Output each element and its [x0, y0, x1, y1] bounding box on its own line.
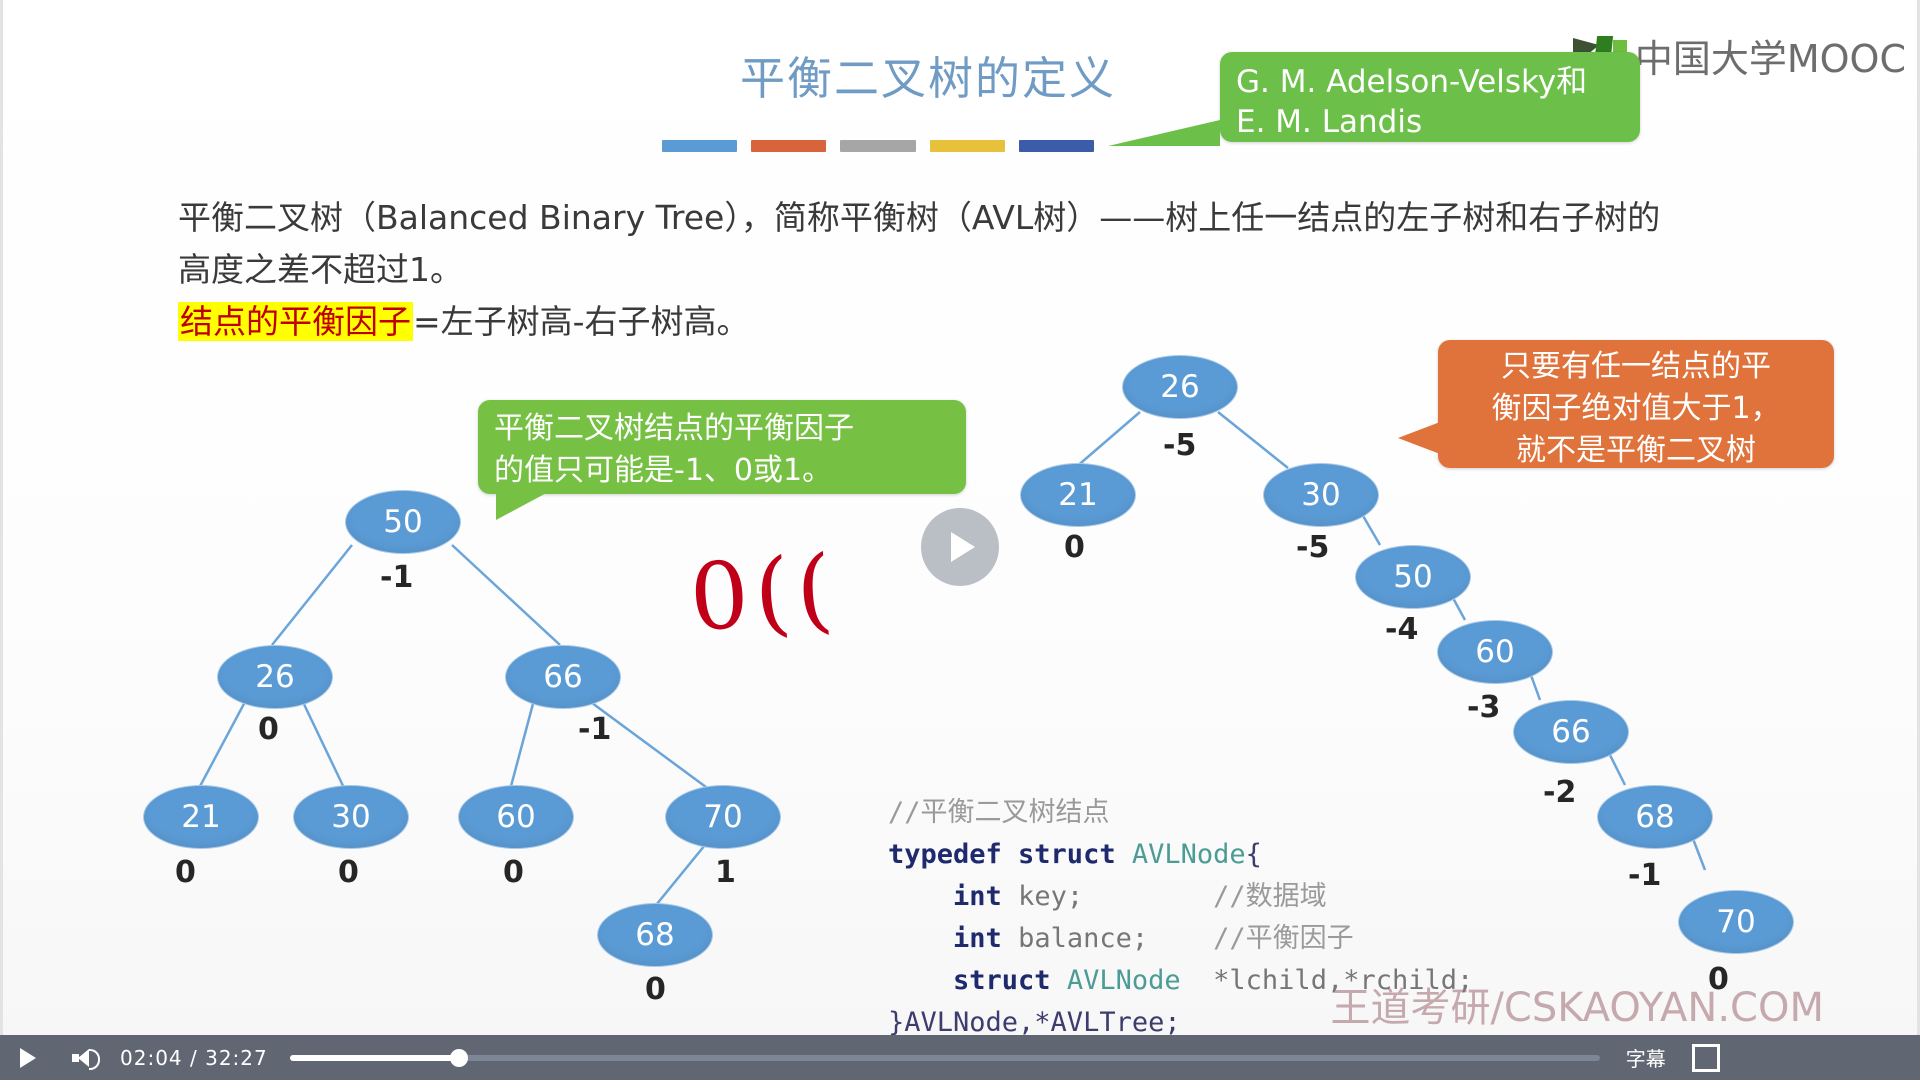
code-struct-type-ref: AVLNode	[1067, 965, 1181, 996]
watermark-text: 王道考研/CSKAOYAN.COM	[1330, 975, 1824, 1033]
balance-factor-formula: =左子树高-右子树高。	[413, 302, 750, 341]
tree-node[interactable]: 68	[1597, 785, 1713, 849]
video-player-page: 平衡二叉树的定义 中国大学MOOC 平衡二叉树（Balanced Binary …	[0, 0, 1920, 1080]
video-controls-bar: 02:04 / 32:27 字幕	[0, 1035, 1920, 1080]
volume-wave-icon	[89, 1049, 100, 1070]
definition-paragraph: 平衡二叉树（Balanced Binary Tree），简称平衡树（AVL树）—…	[178, 192, 1778, 348]
tree-node-balance-factor: -1	[380, 560, 413, 595]
title-bar-2	[751, 140, 826, 152]
play-button[interactable]	[0, 1035, 56, 1080]
authors-callout-line-2: E. M. Landis	[1236, 102, 1624, 142]
tree-node-balance-factor: 0	[175, 855, 196, 890]
tree-node-balance-factor: -1	[578, 712, 611, 747]
fullscreen-corner-tl-icon	[1692, 1044, 1706, 1058]
title-bar-1	[662, 140, 737, 152]
tree-node-balance-factor: -2	[1543, 775, 1576, 810]
tree-node-balance-factor: 1	[715, 855, 736, 890]
code-typedef-keyword: typedef struct	[888, 839, 1116, 870]
time-display: 02:04 / 32:27	[120, 1046, 268, 1070]
authors-callout-tail	[1108, 120, 1220, 146]
mooc-logo-text: 中国大学MOOC	[1635, 28, 1906, 83]
definition-line-1: 平衡二叉树（Balanced Binary Tree），简称平衡树（AVL树）—…	[178, 192, 1778, 244]
tree-node-balance-factor: -4	[1385, 612, 1418, 647]
balance-factor-highlight: 结点的平衡因子	[178, 302, 413, 341]
balance-factor-values-callout: 平衡二叉树结点的平衡因子 的值只可能是-1、0或1。	[478, 400, 966, 494]
tree-node[interactable]: 30	[293, 785, 409, 849]
tree-node[interactable]: 66	[1513, 700, 1629, 764]
tree-node-balance-factor: -5	[1163, 428, 1196, 463]
tree-node-balance-factor: -1	[1628, 858, 1661, 893]
tree-node[interactable]: 26	[1122, 355, 1238, 419]
slide-title: 平衡二叉树的定义	[740, 42, 1170, 107]
tree-node[interactable]: 60	[458, 785, 574, 849]
tree-node-balance-factor: -5	[1296, 530, 1329, 565]
code-int-keyword-1: int	[953, 881, 1002, 912]
code-comment-balance: //平衡因子	[1213, 923, 1354, 954]
play-triangle-icon	[951, 532, 975, 562]
tree-node[interactable]: 30	[1263, 463, 1379, 527]
orange-callout-line-2: 衡因子绝对值大于1，	[1452, 388, 1820, 430]
orange-callout-tail	[1398, 422, 1440, 454]
tree-node[interactable]: 66	[505, 645, 621, 709]
tree-node[interactable]: 60	[1437, 620, 1553, 684]
code-struct-keyword: struct	[953, 965, 1051, 996]
slide-left-border	[0, 0, 3, 1035]
tree-node-balance-factor: 0	[258, 712, 279, 747]
tree-node-balance-factor: 0	[338, 855, 359, 890]
tree-node-balance-factor: 0	[1064, 530, 1085, 565]
progress-handle[interactable]	[450, 1049, 468, 1067]
subtitles-button[interactable]: 字幕	[1626, 1043, 1666, 1072]
progress-bar[interactable]	[290, 1055, 1600, 1061]
title-bar-5	[1019, 140, 1094, 152]
tree-node[interactable]: 50	[345, 490, 461, 554]
slide-canvas: 平衡二叉树的定义 中国大学MOOC 平衡二叉树（Balanced Binary …	[0, 0, 1920, 1035]
fullscreen-corner-br-icon	[1706, 1058, 1720, 1072]
volume-button[interactable]	[56, 1035, 110, 1080]
tree-node[interactable]: 70	[1678, 890, 1794, 954]
tree-node[interactable]: 21	[143, 785, 259, 849]
authors-callout-line-1: G. M. Adelson-Velsky和	[1236, 62, 1624, 102]
title-bar-3	[840, 140, 915, 152]
code-comment-line: //平衡二叉树结点	[888, 797, 1110, 828]
progress-played	[290, 1055, 460, 1061]
green-callout-line-1: 平衡二叉树结点的平衡因子	[494, 408, 950, 450]
tree-node[interactable]: 70	[665, 785, 781, 849]
fullscreen-corner-tr-icon	[1706, 1044, 1720, 1058]
center-play-overlay-button[interactable]	[921, 508, 999, 586]
fullscreen-button[interactable]	[1692, 1044, 1720, 1072]
code-field-key: key;	[1018, 881, 1083, 912]
definition-line-2: 高度之差不超过1。	[178, 244, 1778, 296]
authors-callout: G. M. Adelson-Velsky和 E. M. Landis	[1220, 52, 1640, 142]
handwritten-annotation: 0((	[686, 535, 841, 652]
green-callout-line-2: 的值只可能是-1、0或1。	[494, 450, 950, 492]
code-struct-name: AVLNode	[1132, 839, 1246, 870]
tree-node[interactable]: 68	[597, 903, 713, 967]
fullscreen-corner-bl-icon	[1692, 1058, 1706, 1072]
play-icon	[20, 1048, 36, 1068]
tree-node[interactable]: 26	[217, 645, 333, 709]
code-open-brace: {	[1246, 839, 1262, 870]
orange-callout-line-1: 只要有任一结点的平	[1452, 346, 1820, 388]
tree-node[interactable]: 21	[1020, 463, 1136, 527]
tree-node-balance-factor: 0	[503, 855, 524, 890]
code-closing-line: }AVLNode,*AVLTree;	[888, 1007, 1181, 1035]
tree-node[interactable]: 50	[1355, 545, 1471, 609]
green-callout-tail	[496, 490, 552, 520]
code-comment-key: //数据域	[1213, 881, 1327, 912]
tree-node-balance-factor: 0	[645, 972, 666, 1007]
code-field-balance: balance;	[1018, 923, 1148, 954]
title-underline-bars	[662, 140, 1094, 152]
code-int-keyword-2: int	[953, 923, 1002, 954]
tree-node-balance-factor: -3	[1467, 690, 1500, 725]
unbalanced-rule-callout: 只要有任一结点的平 衡因子绝对值大于1， 就不是平衡二叉树	[1438, 340, 1834, 468]
title-bar-4	[930, 140, 1005, 152]
orange-callout-line-3: 就不是平衡二叉树	[1452, 430, 1820, 472]
